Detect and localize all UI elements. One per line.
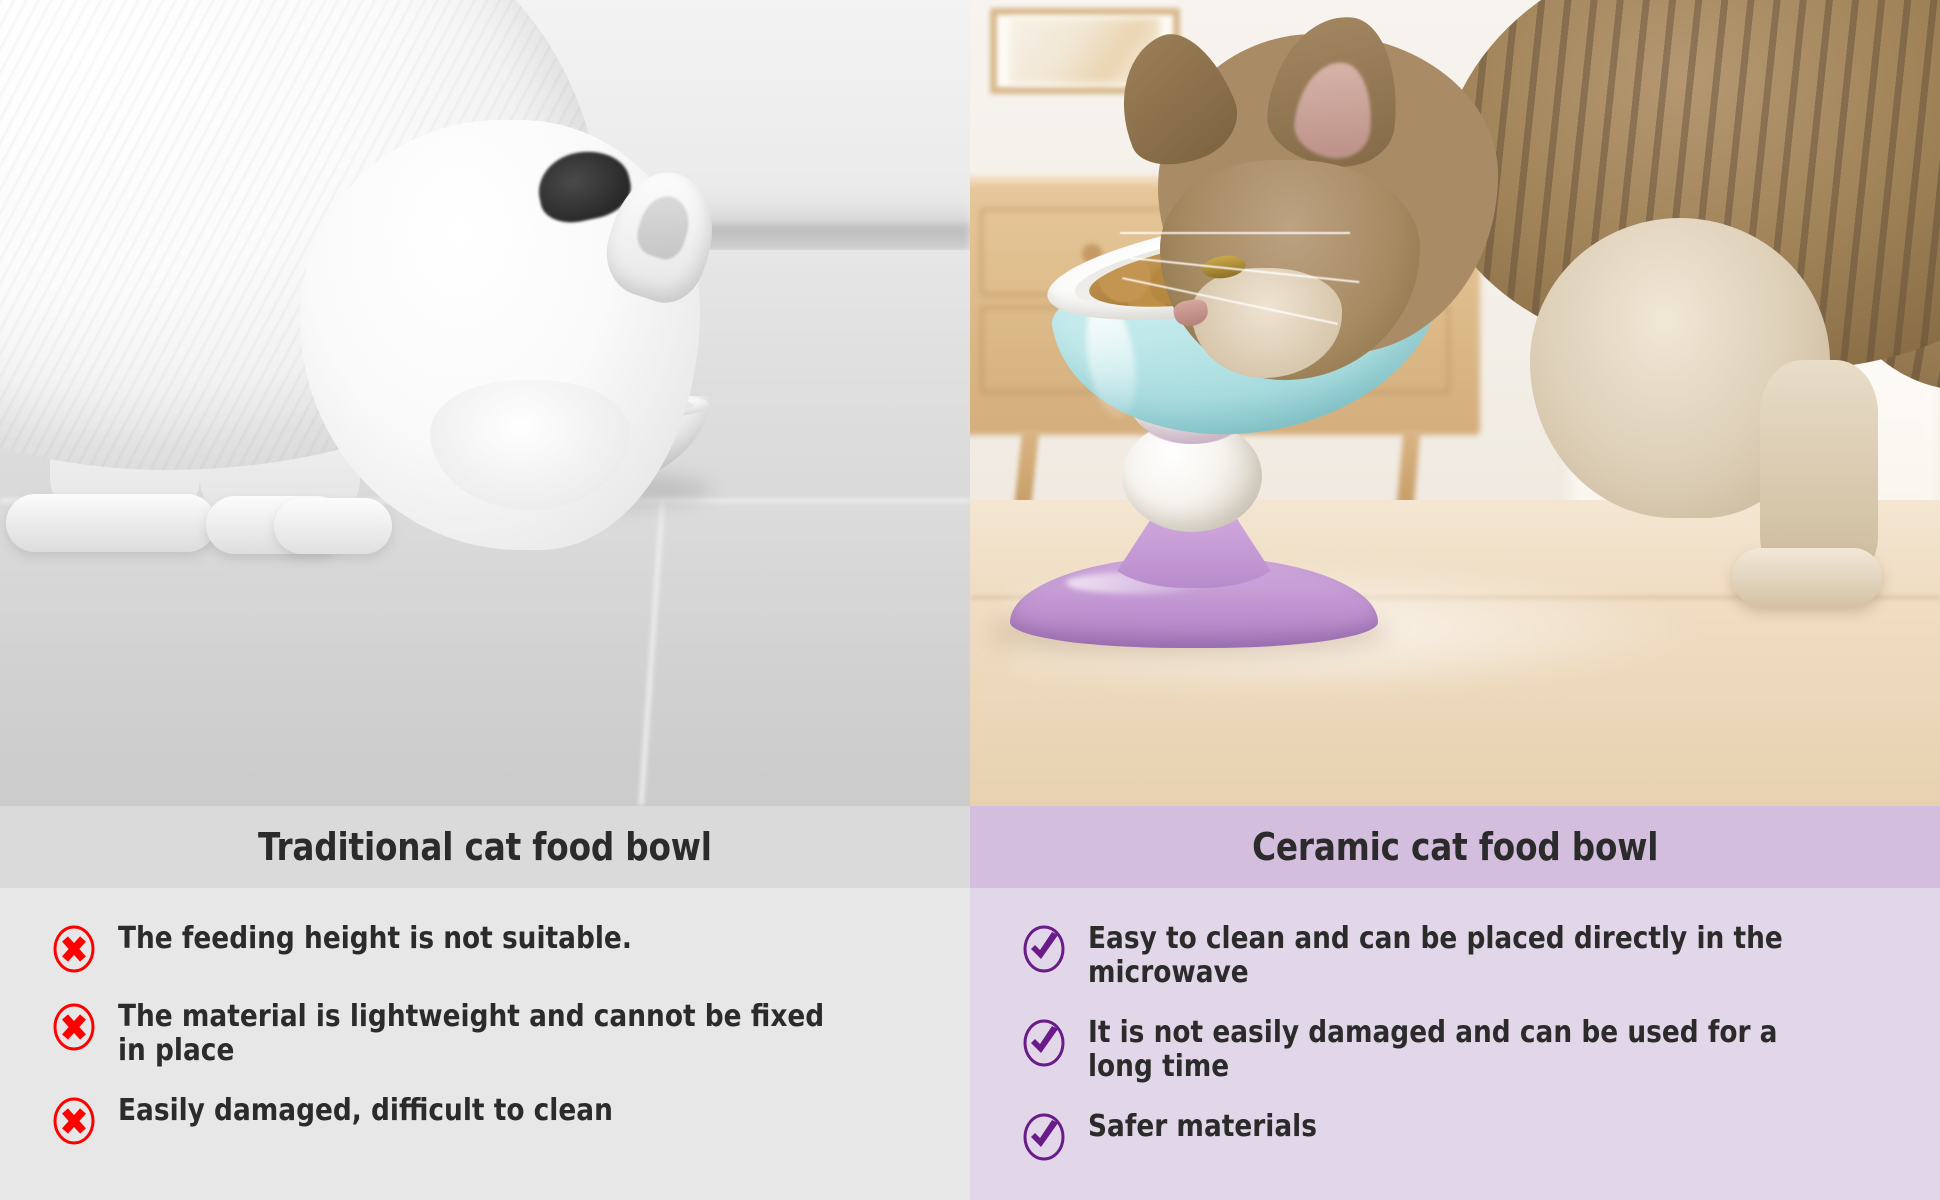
comparison-column-traditional: Traditional cat food bowl The feeding he… xyxy=(0,0,970,1200)
traditional-bullet-list: The feeding height is not suitable. The … xyxy=(0,888,970,1200)
list-item: Easily damaged, difficult to clean xyxy=(52,1094,936,1146)
check-circle-icon xyxy=(1022,1112,1066,1162)
list-item: Safer materials xyxy=(1022,1110,1906,1162)
traditional-bowl-photo xyxy=(0,0,970,806)
list-item-label: The material is lightweight and cannot b… xyxy=(118,1000,838,1068)
tabby-cat-paw xyxy=(1732,548,1882,606)
check-circle-icon xyxy=(1022,1018,1066,1068)
list-item-label: Safer materials xyxy=(1088,1110,1808,1144)
cross-circle-icon xyxy=(52,1096,96,1146)
ceramic-bowl-photo xyxy=(970,0,1940,806)
cat-paw-left xyxy=(6,494,216,552)
ceramic-bullet-list: Easy to clean and can be placed directly… xyxy=(970,888,1940,1200)
cross-circle-icon xyxy=(52,1002,96,1052)
list-item: Easy to clean and can be placed directly… xyxy=(1022,922,1906,990)
whisker xyxy=(1120,232,1350,234)
ceramic-title-bar: Ceramic cat food bowl xyxy=(970,806,1940,888)
comparison-board: Traditional cat food bowl The feeding he… xyxy=(0,0,1940,1200)
list-item-label: Easily damaged, difficult to clean xyxy=(118,1094,838,1128)
list-item-label: Easy to clean and can be placed directly… xyxy=(1088,922,1808,990)
check-circle-icon xyxy=(1022,924,1066,974)
tabby-cat-leg xyxy=(1760,360,1878,580)
traditional-title: Traditional cat food bowl xyxy=(258,825,712,869)
list-item: It is not easily damaged and can be used… xyxy=(1022,1016,1906,1084)
comparison-column-ceramic: Ceramic cat food bowl Easy to clean and … xyxy=(970,0,1940,1200)
traditional-title-bar: Traditional cat food bowl xyxy=(0,806,970,888)
list-item: The feeding height is not suitable. xyxy=(52,922,936,974)
list-item-label: The feeding height is not suitable. xyxy=(118,922,838,956)
cross-circle-icon xyxy=(52,924,96,974)
list-item: The material is lightweight and cannot b… xyxy=(52,1000,936,1068)
cat-paw-right xyxy=(274,498,392,554)
list-item-label: It is not easily damaged and can be used… xyxy=(1088,1016,1808,1084)
ceramic-title: Ceramic cat food bowl xyxy=(1252,825,1658,869)
